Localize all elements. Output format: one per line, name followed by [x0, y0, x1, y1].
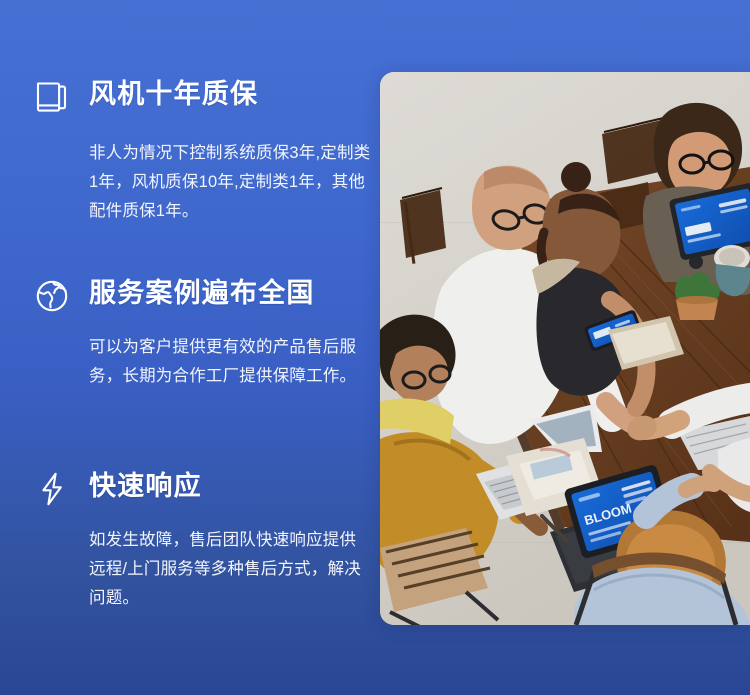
feature-header: 服务案例遍布全国 [0, 275, 380, 319]
promo-banner: 风机十年质保 非人为情况下控制系统质保3年,定制类1年，风机质保10年,定制类1… [0, 0, 750, 695]
feature-header: 风机十年质保 [0, 76, 380, 120]
feature-header: 快速响应 [0, 468, 380, 512]
feature-description: 如发生故障，售后团队快速响应提供远程/上门服务等多种售后方式，解决问题。 [89, 526, 371, 613]
feature-title: 快速响应 [89, 469, 202, 503]
feature-title: 服务案例遍布全国 [89, 276, 315, 310]
feature-description: 非人为情况下控制系统质保3年,定制类1年，风机质保10年,定制类1年，其他配件质… [89, 139, 371, 226]
feature-item-warranty: 风机十年质保 非人为情况下控制系统质保3年,定制类1年，风机质保10年,定制类1… [0, 76, 380, 120]
book-icon [31, 76, 73, 118]
feature-item-nationwide: 服务案例遍布全国 可以为客户提供更有效的产品售后服务，长期为合作工厂提供保障工作… [0, 275, 380, 319]
lightning-bolt-icon [31, 468, 73, 510]
team-meeting-photo: BLOOM [380, 72, 750, 625]
feature-list: 风机十年质保 非人为情况下控制系统质保3年,定制类1年，风机质保10年,定制类1… [0, 0, 380, 695]
feature-title: 风机十年质保 [89, 77, 258, 111]
photo-illustration: BLOOM [380, 72, 750, 625]
feature-description: 可以为客户提供更有效的产品售后服务，长期为合作工厂提供保障工作。 [89, 333, 371, 391]
globe-icon [31, 275, 73, 317]
feature-item-fast-response: 快速响应 如发生故障，售后团队快速响应提供远程/上门服务等多种售后方式，解决问题… [0, 468, 380, 512]
